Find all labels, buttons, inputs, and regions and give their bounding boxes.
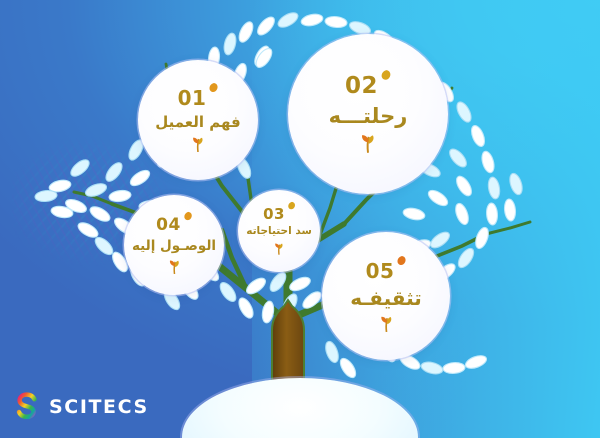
node-circle-02[interactable]: 02 رحلتـــه bbox=[288, 34, 448, 194]
node-label: فهم العميل bbox=[155, 113, 241, 131]
infographic-canvas: 01 فهم العميل 02 رحلتـــه 03 bbox=[0, 0, 600, 438]
node-label: تثقيفـه bbox=[350, 286, 422, 310]
node-number-row: 01 bbox=[178, 88, 219, 108]
node-number: 01 bbox=[178, 88, 207, 108]
node-number: 05 bbox=[366, 261, 395, 281]
node-number: 02 bbox=[345, 75, 378, 98]
leaf-dot-icon bbox=[396, 255, 408, 267]
sprout-icon bbox=[272, 242, 286, 255]
node-number-row: 05 bbox=[366, 261, 407, 281]
node-circle-03[interactable]: 03 سد احتياجاته bbox=[238, 190, 320, 272]
node-circle-05[interactable]: 05 تثقيفـه bbox=[322, 232, 450, 360]
leaf-dot-icon bbox=[380, 69, 393, 82]
brand-logo-text: SCITECS bbox=[49, 396, 149, 418]
node-circle-01[interactable]: 01 فهم العميل bbox=[138, 60, 258, 180]
node-number-row: 02 bbox=[345, 75, 391, 98]
node-label: الوصـول إليه bbox=[132, 238, 216, 254]
brand-logo[interactable]: SCITECS bbox=[14, 392, 149, 422]
node-label: رحلتـــه bbox=[329, 104, 408, 128]
node-circle-04[interactable]: 04 الوصـول إليه bbox=[124, 195, 224, 295]
node-label: سد احتياجاته bbox=[246, 225, 312, 237]
sprout-icon bbox=[166, 259, 183, 274]
node-number: 03 bbox=[263, 207, 285, 222]
sprout-icon bbox=[357, 133, 379, 153]
leaf-dot-icon bbox=[208, 82, 220, 94]
node-number-row: 03 bbox=[263, 207, 295, 222]
node-number-row: 04 bbox=[156, 217, 192, 234]
sprout-icon bbox=[377, 315, 396, 332]
node-number: 04 bbox=[156, 217, 181, 234]
scitecs-s-logo-icon bbox=[14, 392, 40, 422]
leaf-dot-icon bbox=[183, 211, 194, 222]
leaf-dot-icon bbox=[287, 201, 297, 211]
sprout-icon bbox=[189, 136, 207, 152]
